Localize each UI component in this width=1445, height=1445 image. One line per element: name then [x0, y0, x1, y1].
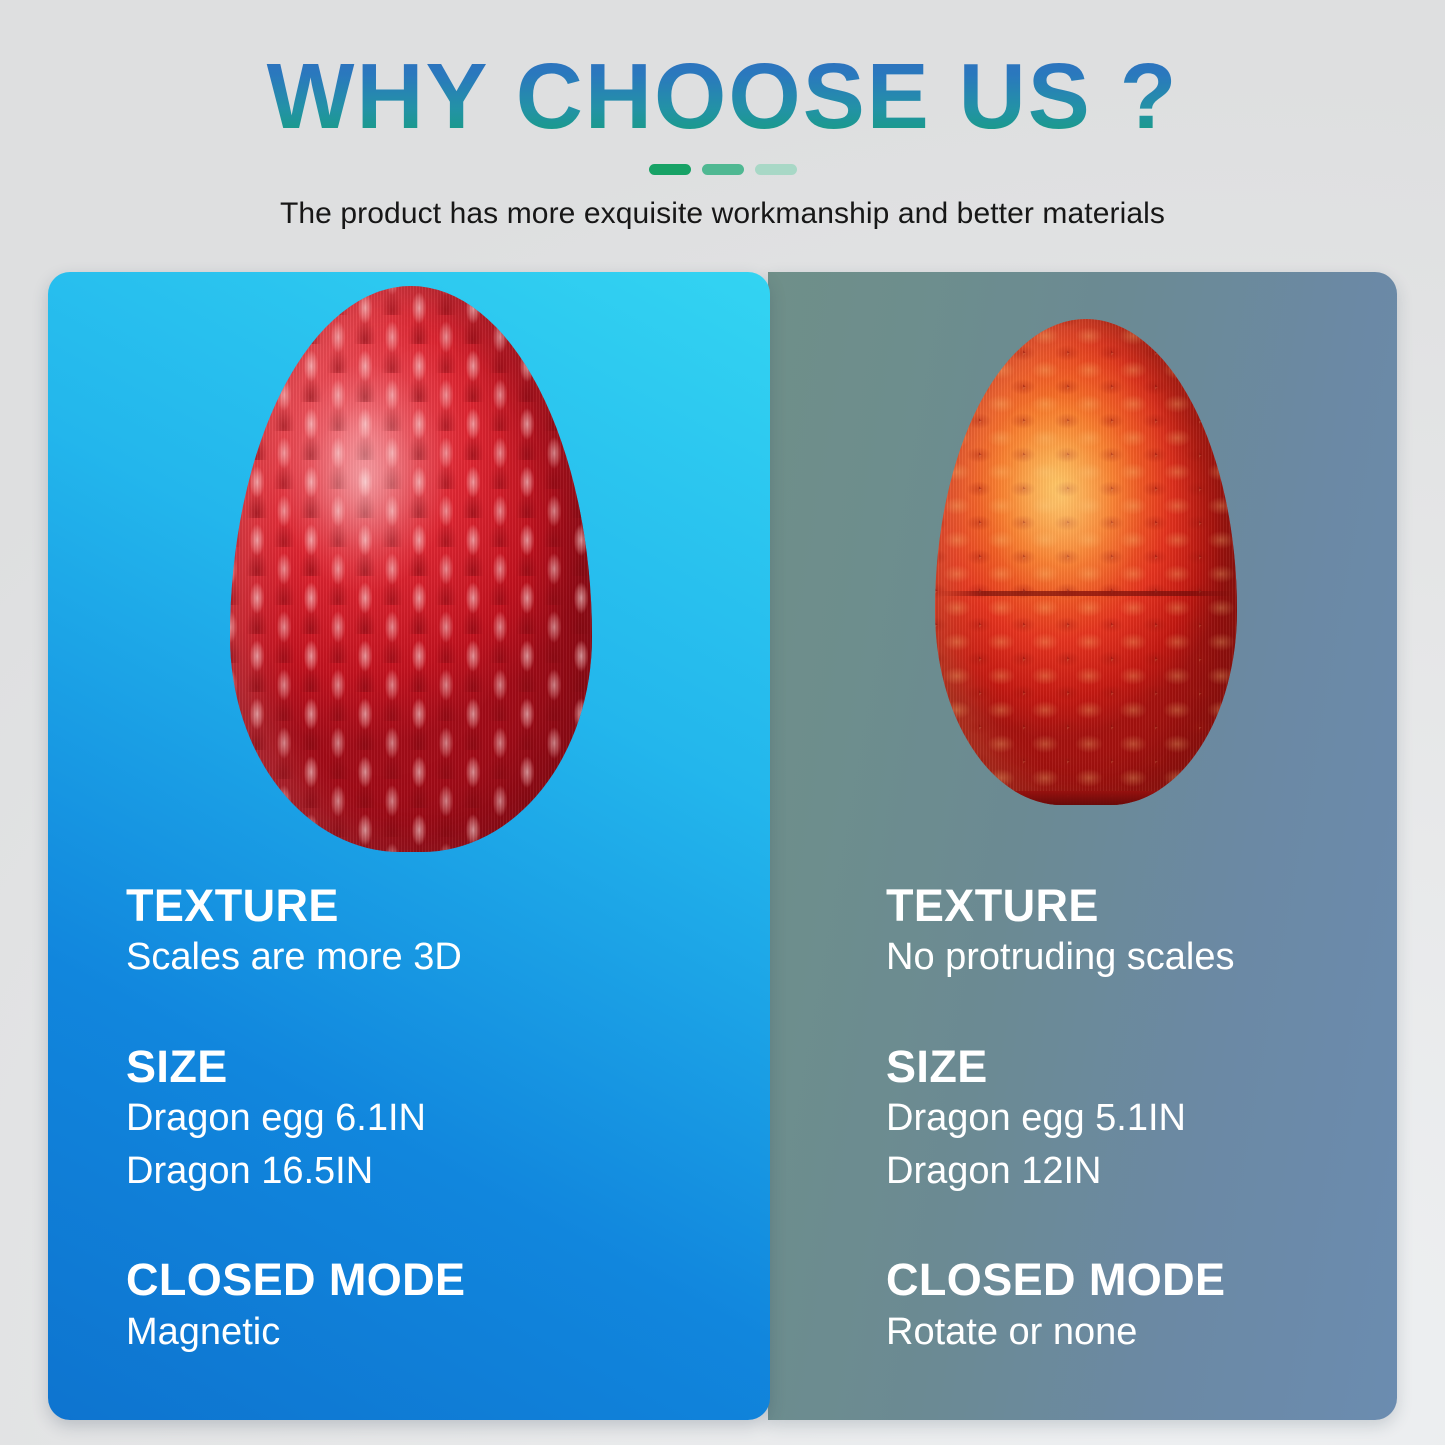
- spec-block-texture-left: TEXTURE Scales are more 3D: [126, 881, 465, 984]
- product-image-right: [768, 272, 1397, 872]
- print-striation-right: [935, 319, 1237, 805]
- spec-line: Dragon egg 5.1IN: [886, 1092, 1235, 1144]
- spec-block-closed-mode-left: CLOSED MODE Magnetic: [126, 1255, 465, 1358]
- spec-block-size-right: SIZE Dragon egg 5.1IN Dragon 12IN: [886, 1042, 1235, 1197]
- panel-our-product: TEXTURE Scales are more 3D SIZE Dragon e…: [48, 272, 770, 1420]
- panel-other-product: TEXTURE No protruding scales SIZE Dragon…: [768, 272, 1397, 1420]
- spec-title: TEXTURE: [126, 881, 465, 931]
- spec-line: Dragon egg 6.1IN: [126, 1092, 465, 1144]
- spec-title: SIZE: [126, 1042, 465, 1092]
- seam-line: [938, 591, 1234, 596]
- spec-line: Dragon 12IN: [886, 1145, 1235, 1197]
- page-subtitle: The product has more exquisite workmansh…: [0, 197, 1445, 231]
- spec-line: Magnetic: [126, 1306, 465, 1358]
- spec-title: CLOSED MODE: [886, 1255, 1235, 1305]
- dash-3-icon: [755, 164, 797, 175]
- egg-base: [1014, 791, 1159, 805]
- dash-1-icon: [649, 164, 691, 175]
- comparison-panels: TEXTURE Scales are more 3D SIZE Dragon e…: [48, 272, 1397, 1420]
- spec-title: CLOSED MODE: [126, 1255, 465, 1305]
- header: WHY CHOOSE US ? The product has more exq…: [0, 0, 1445, 231]
- page-title: WHY CHOOSE US ?: [0, 48, 1445, 146]
- spec-line: Rotate or none: [886, 1306, 1235, 1358]
- dragon-egg-flat-image: [935, 319, 1237, 805]
- spec-block-texture-right: TEXTURE No protruding scales: [886, 881, 1235, 984]
- dragon-egg-spiky-image: [230, 286, 592, 852]
- infographic-root: WHY CHOOSE US ? The product has more exq…: [0, 0, 1445, 1445]
- divider-dashes: [0, 164, 1445, 175]
- spec-block-size-left: SIZE Dragon egg 6.1IN Dragon 16.5IN: [126, 1042, 465, 1197]
- spec-title: TEXTURE: [886, 881, 1235, 931]
- spec-line: Scales are more 3D: [126, 931, 465, 983]
- product-image-left: [48, 272, 770, 872]
- spec-list-right: TEXTURE No protruding scales SIZE Dragon…: [886, 881, 1235, 1358]
- print-striation-left: [230, 286, 592, 852]
- spec-line: No protruding scales: [886, 931, 1235, 983]
- dash-2-icon: [702, 164, 744, 175]
- spec-block-closed-mode-right: CLOSED MODE Rotate or none: [886, 1255, 1235, 1358]
- spec-title: SIZE: [886, 1042, 1235, 1092]
- spec-line: Dragon 16.5IN: [126, 1145, 465, 1197]
- spec-list-left: TEXTURE Scales are more 3D SIZE Dragon e…: [126, 881, 465, 1358]
